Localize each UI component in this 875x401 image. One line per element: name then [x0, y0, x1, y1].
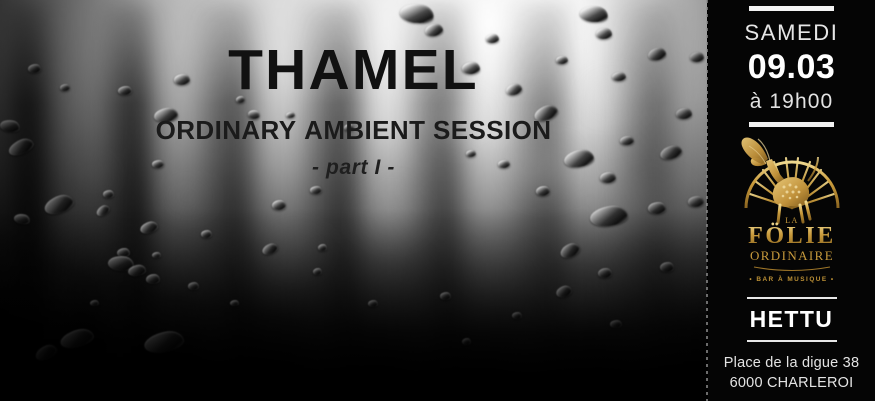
top-divider-bar — [749, 6, 834, 11]
event-day: SAMEDI — [745, 22, 839, 44]
address-line-2: 6000 CHARLEROI — [724, 374, 859, 394]
venue-name: HETTU — [750, 308, 834, 331]
logo-word-second: ORDINAIRE — [749, 248, 833, 263]
la-folie-ordinaire-logo: LA FÖLIE ORDINAIRE • BAR À MUSIQUE • — [728, 135, 856, 287]
event-poster: THAMEL ORDINARY AMBIENT SESSION - part I… — [0, 0, 875, 401]
background-photo — [0, 0, 707, 401]
logo-word-main: FÖLIE — [748, 223, 836, 249]
address-line-1: Place de la digue 38 — [724, 354, 859, 374]
venue-rule-top — [747, 297, 837, 299]
venue-address: Place de la digue 38 6000 CHARLEROI — [724, 354, 859, 393]
info-panel: SAMEDI 09.03 à 19h00 — [708, 0, 875, 401]
event-time: à 19h00 — [750, 91, 834, 112]
winged-deer-sunburst-icon: LA FÖLIE ORDINAIRE • BAR À MUSIQUE • — [728, 135, 856, 287]
middle-divider-bar — [749, 122, 834, 127]
event-date: 09.03 — [748, 50, 836, 84]
logo-tagline: • BAR À MUSIQUE • — [749, 274, 834, 283]
venue-rule-bottom — [747, 340, 837, 342]
photo-vignette — [0, 0, 707, 401]
